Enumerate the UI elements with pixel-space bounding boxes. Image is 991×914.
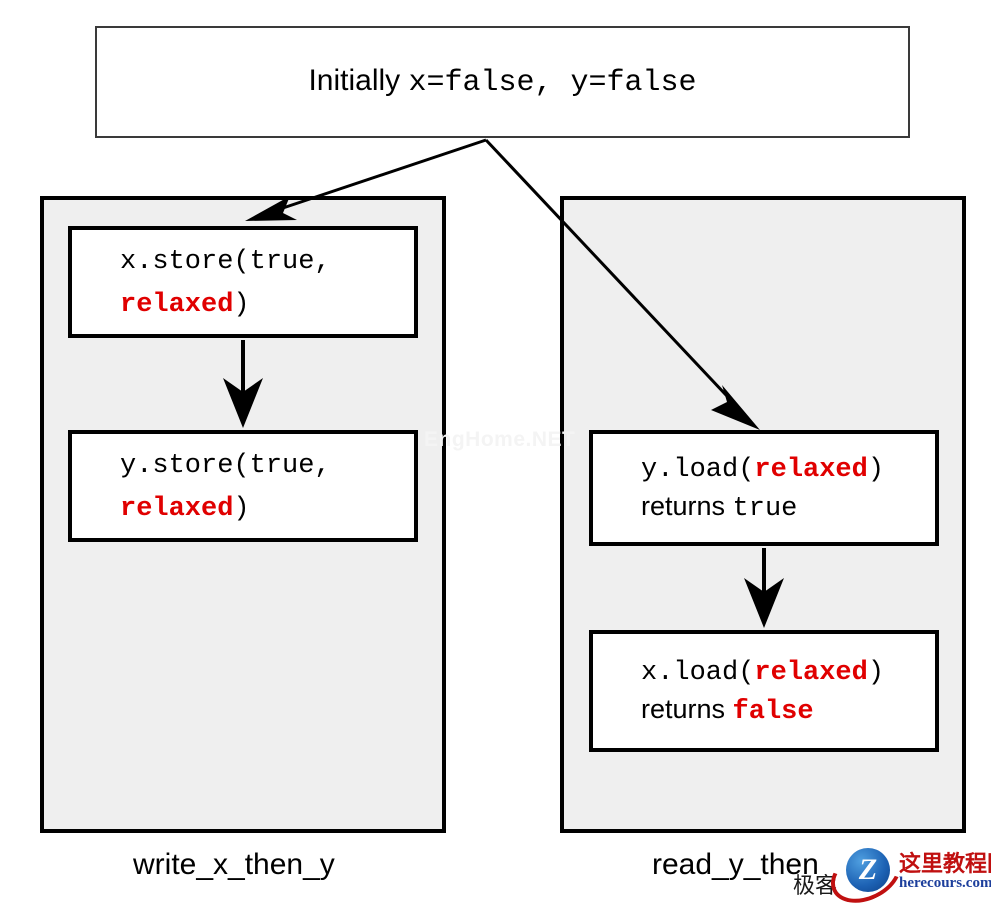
watermark-logo: 极客 Z 这里教程网 herecours.com — [793, 846, 991, 900]
op-y-store-line1: y.store(true, — [120, 443, 414, 486]
op-y-load-return-value: true — [733, 494, 798, 524]
op-x-load-line1: x.load(relaxed) — [641, 652, 935, 691]
op-y-load-returns-label: returns — [641, 491, 733, 521]
watermark-brand-en: herecours.com — [899, 875, 991, 892]
op-x-store-line1: x.store(true, — [120, 239, 414, 282]
memory-order-relaxed-x-store: relaxed — [120, 290, 233, 320]
thread-label-write-x-then-y: write_x_then_y — [133, 848, 335, 882]
watermark-z-letter: Z — [846, 848, 890, 892]
op-y-store-code: y.store(true, — [120, 451, 331, 481]
op-x-load-returns-label: returns — [641, 694, 733, 724]
op-x-store-paren: ) — [233, 290, 249, 320]
op-y-store-line2: relaxed) — [120, 486, 414, 529]
op-x-load-call: x.load( — [641, 658, 754, 688]
memory-order-relaxed-y-load: relaxed — [754, 455, 867, 485]
op-x-load-paren: ) — [868, 658, 884, 688]
initially-label: Initially — [308, 64, 408, 97]
memory-order-relaxed-x-load: relaxed — [754, 658, 867, 688]
op-y-store-paren: ) — [233, 494, 249, 524]
op-box-y-store: y.store(true, relaxed) — [68, 430, 418, 542]
memory-order-relaxed-y-store: relaxed — [120, 494, 233, 524]
initial-conditions-text: Initially x=false, y=false — [308, 64, 696, 100]
watermark-center-text: EngHome.NET — [424, 428, 575, 452]
op-x-store-code: x.store(true, — [120, 247, 331, 277]
initial-conditions-box: Initially x=false, y=false — [95, 26, 910, 138]
op-x-load-return-value: false — [733, 697, 814, 727]
watermark-brand-cn: 这里教程网 — [899, 846, 991, 878]
diagram-canvas: Initially x=false, y=false x.store(true,… — [0, 0, 991, 900]
op-y-load-line1: y.load(relaxed) — [641, 449, 935, 488]
op-box-x-store: x.store(true, relaxed) — [68, 226, 418, 338]
initial-values-code: x=false, y=false — [409, 66, 697, 100]
op-x-store-line2: relaxed) — [120, 282, 414, 325]
op-box-x-load: x.load(relaxed) returns false — [589, 630, 939, 752]
op-x-load-line2: returns false — [641, 691, 935, 730]
op-y-load-call: y.load( — [641, 455, 754, 485]
op-box-y-load: y.load(relaxed) returns true — [589, 430, 939, 546]
op-y-load-line2: returns true — [641, 488, 935, 527]
op-y-load-paren: ) — [868, 455, 884, 485]
